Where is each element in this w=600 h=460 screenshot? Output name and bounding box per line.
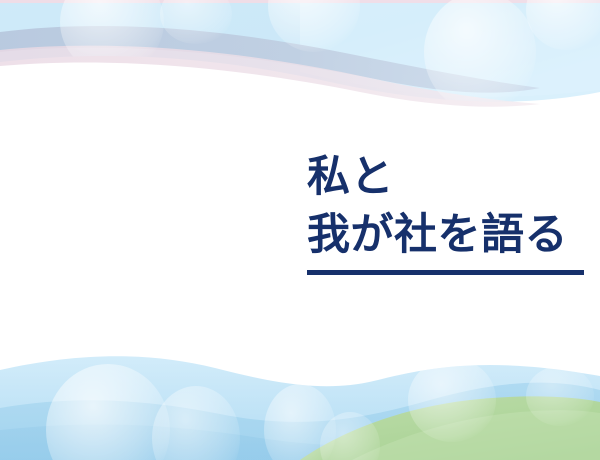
bottom-green-hill-light — [352, 410, 600, 460]
bottom-bubbles — [46, 358, 594, 460]
title-underline-rule — [307, 270, 584, 275]
bottom-mid-wave — [0, 383, 600, 460]
top-bubbles — [60, 0, 600, 112]
bottom-light-wave — [0, 356, 600, 460]
title-line-2: 我が社を語る — [307, 206, 592, 264]
bubble-circle — [160, 0, 232, 44]
top-slate-band — [0, 26, 540, 93]
bubble-circle — [264, 384, 336, 460]
title-block: 私と 我が社を語る — [307, 148, 592, 275]
title-line-1: 私と — [307, 148, 592, 206]
slide-canvas: 私と 我が社を語る — [0, 0, 600, 460]
bubble-circle — [320, 412, 380, 460]
top-sky-shape — [0, 0, 600, 102]
bubble-circle — [526, 0, 600, 50]
bubble-circle — [526, 366, 594, 426]
top-sky-highlight — [300, 0, 600, 97]
bubble-circle — [424, 0, 536, 112]
top-pink-band — [0, 46, 540, 107]
bubble-circle — [408, 358, 496, 442]
bubble-circle — [152, 386, 240, 460]
bottom-wave-group — [0, 356, 600, 460]
bubble-circle — [268, 0, 360, 52]
top-wave-group — [0, 0, 600, 120]
bubble-circle — [46, 364, 170, 460]
bubble-circle — [60, 0, 164, 74]
top-pink-line — [0, 0, 600, 3]
bottom-green-hill — [300, 396, 600, 460]
bottom-deep-wave — [0, 424, 600, 460]
